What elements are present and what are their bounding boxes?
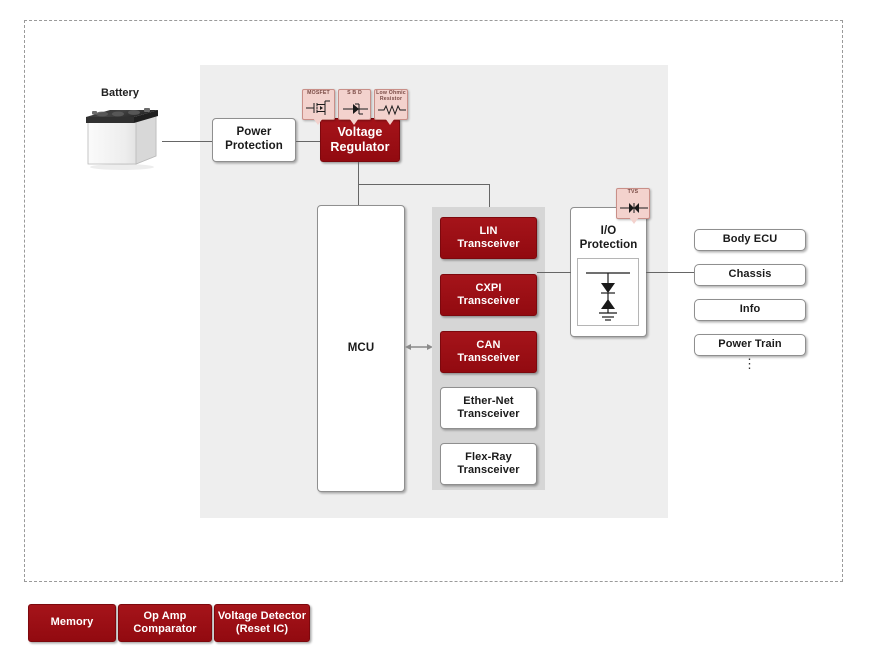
line-io-protection-to-ecu-list — [646, 272, 694, 273]
legend-item-voltage-detector-label: Voltage Detector(Reset IC) — [218, 610, 306, 636]
battery-label: Battery — [80, 87, 160, 99]
voltage-regulator-label: Voltage Regulator — [321, 125, 399, 155]
diagram-canvas: Battery — [0, 0, 891, 649]
flexray-transceiver-label: Flex-RayTransceiver — [457, 451, 519, 477]
ecu-list-continuation: ⋮ — [694, 357, 806, 370]
line-vreg-branch-horizontal — [358, 184, 490, 185]
cxpi-transceiver-label: CXPITransceiver — [457, 282, 519, 308]
callout-tvs[interactable]: TVS — [616, 188, 650, 219]
tvs-diode-icon — [617, 198, 649, 216]
callout-sbd[interactable]: S B D — [338, 89, 371, 120]
io-protection-label: I/OProtection — [580, 225, 638, 253]
ecu-item-chassis-label: Chassis — [729, 268, 772, 281]
lin-transceiver-block[interactable]: LINTransceiver — [440, 217, 537, 259]
ecu-item-body-ecu-label: Body ECU — [723, 233, 778, 246]
legend-item-op-amp-comparator-label: Op AmpComparator — [133, 610, 196, 636]
lin-transceiver-label: LINTransceiver — [457, 225, 519, 251]
ethernet-transceiver-block[interactable]: Ether-NetTransceiver — [440, 387, 537, 429]
ecu-item-body-ecu[interactable]: Body ECU — [694, 229, 806, 251]
resistor-icon — [375, 99, 407, 117]
ecu-item-info-label: Info — [740, 303, 761, 316]
flexray-transceiver-block[interactable]: Flex-RayTransceiver — [440, 443, 537, 485]
mcu-transceiver-bidirectional-arrow — [405, 341, 433, 353]
ecu-item-power-train[interactable]: Power Train — [694, 334, 806, 356]
callout-mosfet-label: MOSFET — [303, 91, 334, 97]
power-protection-block[interactable]: Power Protection — [212, 118, 296, 162]
cxpi-transceiver-block[interactable]: CXPITransceiver — [440, 274, 537, 316]
callout-low-ohmic-resistor-tail — [385, 118, 395, 125]
schottky-diode-icon — [339, 99, 370, 117]
callout-tvs-label: TVS — [617, 190, 649, 196]
power-protection-label: Power Protection — [213, 126, 295, 154]
ecu-item-info[interactable]: Info — [694, 299, 806, 321]
legend-item-op-amp-comparator[interactable]: Op AmpComparator — [118, 604, 212, 642]
line-battery-to-power-protection — [162, 141, 212, 142]
callout-sbd-tail — [349, 118, 359, 125]
callout-low-ohmic-resistor[interactable]: Low Ohmic Resistor — [374, 89, 408, 120]
line-vreg-to-transceiver-group — [489, 184, 490, 207]
callout-mosfet[interactable]: MOSFET — [302, 89, 335, 120]
mcu-label: MCU — [348, 342, 375, 356]
callout-tvs-tail — [629, 217, 639, 224]
callout-sbd-label: S B D — [339, 91, 370, 97]
can-transceiver-label: CANTransceiver — [457, 339, 519, 365]
ethernet-transceiver-label: Ether-NetTransceiver — [457, 395, 519, 421]
ecu-item-power-train-label: Power Train — [718, 338, 781, 351]
ecu-item-chassis[interactable]: Chassis — [694, 264, 806, 286]
line-transceivers-to-io-protection — [537, 272, 571, 273]
line-power-protection-to-voltage-regulator — [296, 141, 320, 142]
can-transceiver-block[interactable]: CANTransceiver — [440, 331, 537, 373]
mcu-block[interactable]: MCU — [317, 205, 405, 492]
io-protection-schematic — [577, 258, 639, 326]
legend-item-memory-label: Memory — [51, 616, 94, 629]
callout-mosfet-tail — [313, 118, 323, 125]
legend-item-memory[interactable]: Memory — [28, 604, 116, 642]
mosfet-icon — [303, 99, 334, 117]
battery-icon — [78, 100, 164, 172]
legend-item-voltage-detector[interactable]: Voltage Detector(Reset IC) — [214, 604, 310, 642]
